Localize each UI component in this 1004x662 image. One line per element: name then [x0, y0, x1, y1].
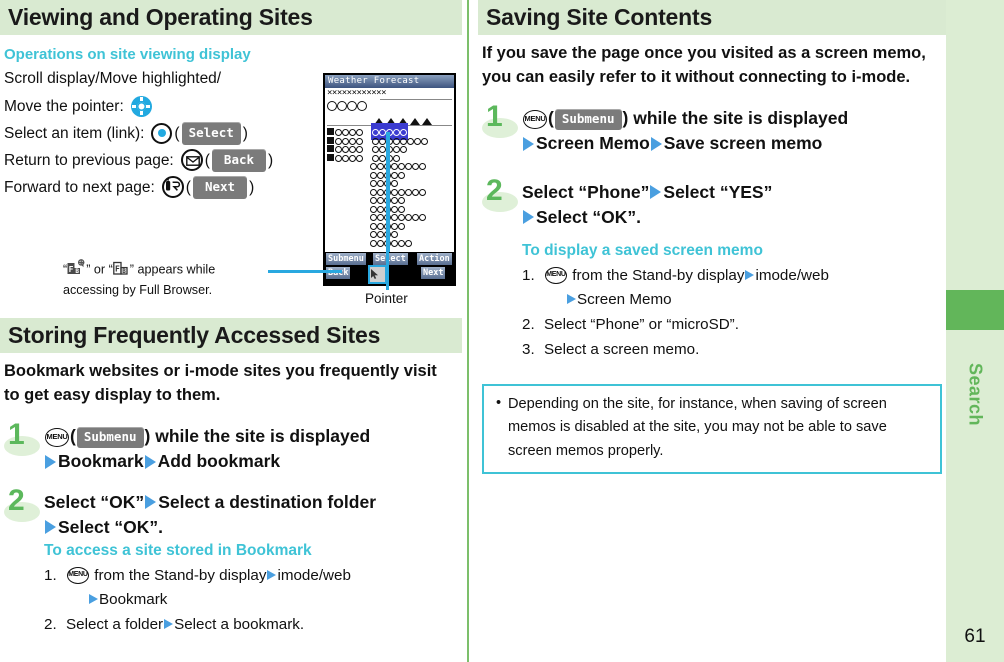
list-item: 3. Select a screen memo.	[522, 338, 942, 362]
softkey-label-submenu: Submenu	[77, 427, 144, 448]
list-item: 1. MENU from the Stand-by displayimode/w…	[522, 264, 942, 312]
section-title-saving: Saving Site Contents	[478, 0, 946, 35]
step-text: MENU(Submenu) while the site is displaye…	[44, 424, 456, 474]
full-browser-caption: “FB” or “FB” appears while accessing by …	[63, 259, 273, 300]
list-item: 1. MENU from the Stand-by displayimode/w…	[44, 564, 456, 612]
list-item-arrow-text: Select a bookmark.	[174, 616, 304, 633]
subheading-display-memo: To display a saved screen memo	[522, 242, 942, 260]
list-marker: 3.	[522, 338, 535, 362]
list-item-cont-text: Bookmark	[99, 591, 167, 608]
sidebar-item-search[interactable]: Search	[946, 330, 1004, 460]
page-number: 61	[946, 626, 1004, 648]
pointer-label: Pointer	[365, 291, 408, 306]
nav-key-icon	[131, 96, 152, 117]
operation-label: Forward to next page:	[4, 175, 155, 200]
step1-part-2: Save screen memo	[664, 133, 823, 153]
phone-screen-mock: Weather Forecast ××××××××××××	[323, 73, 456, 286]
arrow-icon	[89, 594, 98, 604]
step-text: MENU(Submenu) while the site is displaye…	[522, 106, 942, 156]
step1-after: ) while the site is displayed	[145, 426, 371, 446]
note-text: • Depending on the site, for instance, w…	[494, 393, 930, 464]
pointer-cursor-icon	[368, 265, 387, 284]
step2-line1-a: Select “Phone”	[522, 182, 649, 202]
list-item: 2. Select a folderSelect a bookmark.	[44, 613, 456, 637]
softkey-label-submenu: Submenu	[555, 109, 622, 130]
step-2-saving: 2 Select “Phone”Select “YES” Select “OK”…	[482, 180, 942, 362]
list-item-text: Select a screen memo.	[544, 341, 699, 358]
softkey-label-next: Next	[193, 176, 247, 199]
softkey-next: Next	[421, 267, 445, 279]
list-item-text: from the Stand-by display	[572, 267, 744, 284]
bullet-icon: •	[496, 392, 501, 416]
softkey-back: Back	[326, 267, 350, 279]
arrow-icon	[651, 137, 662, 151]
step2-line1-b: Select “YES”	[663, 182, 772, 202]
arrow-icon	[650, 185, 661, 199]
sidebar-active-tab[interactable]	[946, 290, 1004, 330]
step-number: 2	[8, 486, 25, 516]
mail-key-icon	[181, 149, 203, 171]
list-item-continuation: Bookmark	[66, 588, 456, 612]
softkey-select: Select	[373, 253, 408, 265]
intro-storing: Bookmark websites or i-mode sites you fr…	[4, 360, 456, 408]
arrow-icon	[567, 294, 576, 304]
caption-line2: accessing by Full Browser.	[63, 281, 273, 299]
right-column: Saving Site Contents If you save the pag…	[478, 0, 946, 662]
step1-part-2: Add bookmark	[158, 451, 281, 471]
operation-label: Select an item (link):	[4, 121, 144, 146]
pointer-leader-line	[386, 180, 389, 290]
svg-text:F: F	[115, 265, 120, 274]
step2-line2: Select “OK”.	[536, 207, 641, 227]
step-2-storing: 2 Select “OK”Select a destination folder…	[4, 490, 456, 637]
step-number: 1	[486, 102, 503, 132]
arrow-icon	[45, 520, 56, 534]
arrow-icon	[745, 270, 754, 280]
menu-key-icon: MENU	[67, 567, 89, 584]
section-title-viewing: Viewing and Operating Sites	[0, 0, 462, 35]
caption-mid: ” or “	[86, 262, 113, 276]
step-number: 2	[486, 176, 503, 206]
list-item-text: Select “Phone” or “microSD”.	[544, 316, 739, 333]
manual-page: Viewing and Operating Sites Operations o…	[0, 0, 1004, 662]
step-text: Select “OK”Select a destination folder S…	[44, 490, 456, 540]
menu-key-icon: MENU	[545, 267, 567, 284]
list-item-text: Select a folder	[66, 616, 163, 633]
phone-softkey-bar: Submenu Select Action Back Next	[325, 252, 454, 284]
list-item-text: from the Stand-by display	[94, 567, 266, 584]
step2-line2: Select “OK”.	[58, 517, 163, 537]
fb-icon-outline: FB	[113, 259, 130, 281]
intro-saving: If you save the page once you visited as…	[482, 42, 942, 90]
note-body: Depending on the site, for instance, whe…	[508, 396, 887, 459]
phone-xxx-row: ××××××××××××	[325, 88, 454, 98]
softkey-label-back: Back	[212, 149, 266, 172]
step-text: Select “Phone”Select “YES” Select “OK”.	[522, 180, 942, 230]
arrow-icon	[164, 619, 173, 629]
list-marker: 2.	[44, 613, 57, 637]
section-title-storing: Storing Frequently Accessed Sites	[0, 318, 462, 353]
operation-label: Move the pointer:	[4, 94, 124, 119]
list-item-arrow-text: imode/web	[277, 567, 350, 584]
sublist-display-memo: 1. MENU from the Stand-by displayimode/w…	[522, 264, 942, 362]
step-1-saving: 1 MENU(Submenu) while the site is displa…	[482, 106, 942, 156]
select-key-icon	[151, 123, 172, 144]
operation-label: Scroll display/Move highlighted/	[4, 66, 221, 91]
list-marker: 1.	[522, 264, 535, 288]
step1-part-1: Bookmark	[58, 451, 144, 471]
step2-line1-a: Select “OK”	[44, 492, 144, 512]
menu-key-icon: MENU	[45, 428, 69, 447]
operation-label: Return to previous page:	[4, 148, 174, 173]
left-column: Viewing and Operating Sites Operations o…	[0, 0, 462, 662]
list-item-continuation: Screen Memo	[544, 288, 942, 312]
list-item: 2. Select “Phone” or “microSD”.	[522, 313, 942, 337]
step1-after: ) while the site is displayed	[623, 108, 849, 128]
arrow-icon	[523, 137, 534, 151]
softkey-submenu: Submenu	[326, 253, 366, 265]
list-item-cont-text: Screen Memo	[577, 291, 672, 308]
step1-part-1: Screen Memo	[536, 133, 650, 153]
list-marker: 1.	[44, 564, 57, 588]
list-marker: 2.	[522, 313, 535, 337]
step-number: 1	[8, 420, 25, 450]
arrow-icon	[267, 570, 276, 580]
subheading-access-bookmark: To access a site stored in Bookmark	[44, 542, 456, 560]
column-divider	[467, 0, 469, 662]
sublist-access-bookmark: 1. MENU from the Stand-by displayimode/w…	[44, 564, 456, 637]
caption-leader-line	[268, 270, 342, 273]
note-box: • Depending on the site, for instance, w…	[482, 384, 942, 474]
fb-icon-filled: FB	[67, 259, 86, 281]
phone-screen-body: ××××××××××××	[325, 88, 454, 252]
paren-open: (	[548, 108, 554, 128]
menu-key-icon: MENU	[523, 110, 547, 129]
imode-key-icon	[162, 176, 184, 198]
arrow-icon	[45, 455, 56, 469]
step2-line1-b: Select a destination folder	[158, 492, 376, 512]
paren-open: (	[70, 426, 76, 446]
softkey-label-select: Select	[182, 122, 241, 145]
svg-text:B: B	[122, 268, 126, 275]
svg-text:B: B	[76, 268, 80, 275]
caption-quote-close: ” appears while	[130, 262, 215, 276]
step-1-storing: 1 MENU(Submenu) while the site is displa…	[4, 424, 456, 474]
softkey-action: Action	[417, 253, 452, 265]
arrow-icon	[523, 210, 534, 224]
arrow-icon	[145, 495, 156, 509]
subheading-operations: Operations on site viewing display	[4, 46, 462, 63]
arrow-icon	[145, 455, 156, 469]
svg-text:F: F	[69, 265, 74, 274]
phone-title-bar: Weather Forecast	[325, 75, 454, 88]
list-item-arrow-text: imode/web	[755, 267, 828, 284]
